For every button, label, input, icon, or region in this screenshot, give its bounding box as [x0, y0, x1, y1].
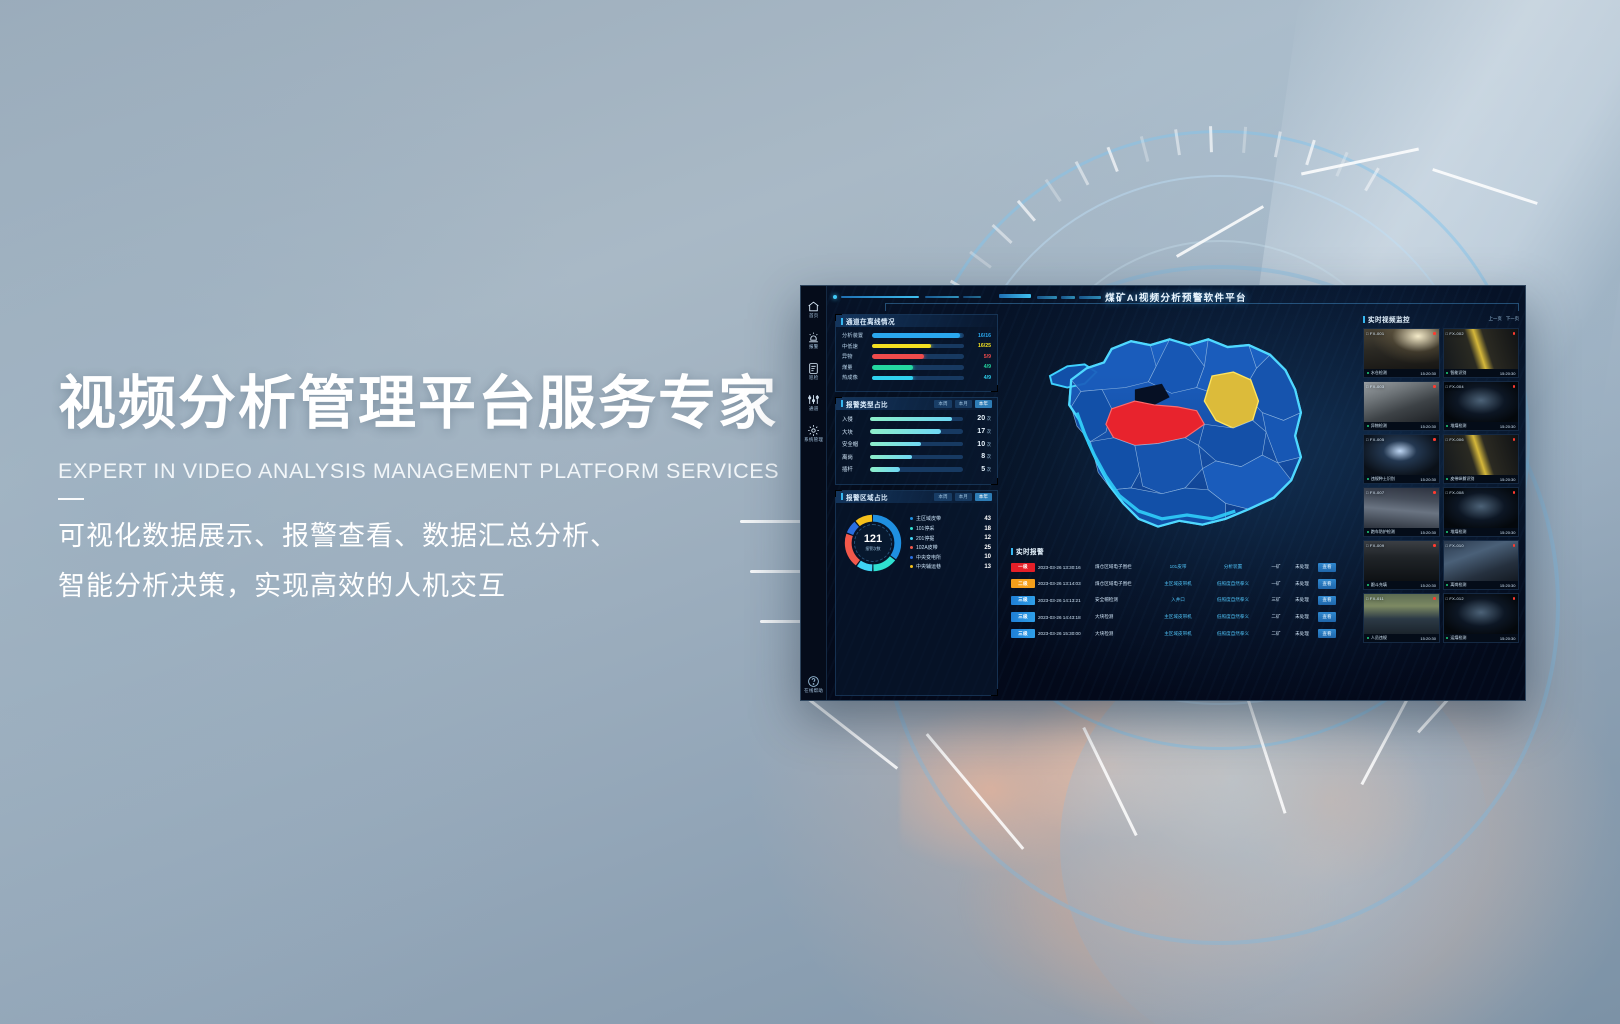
alarm-time: 2023-03-26 15:30:00	[1038, 631, 1092, 636]
tab-本月[interactable]: 本月	[955, 400, 972, 409]
channel-row-value: 16/25	[968, 343, 991, 349]
status-badge: 三级	[1011, 629, 1035, 638]
alarm-type-fill	[870, 455, 912, 459]
center-column: 实时报警 一级2023-03-26 13:30:16煤仓区域电子围栏101皮带分…	[1005, 310, 1361, 700]
dashboard-body: 通道在离线情况 分析装置16/16中低速16/25异物5/9煤量4/9热成像4/…	[827, 310, 1525, 700]
alarm-status: 未处理	[1289, 564, 1315, 570]
alarm-type-value: 20次	[967, 415, 991, 422]
channel-row-label: 热成像	[842, 374, 868, 381]
video-tile[interactable]: □ FX-003异物检测15:20:30	[1363, 381, 1440, 431]
record-indicator-icon	[1433, 491, 1436, 494]
view-button[interactable]: 查看	[1318, 596, 1336, 606]
alarm-channel[interactable]: 主区域皮带机	[1156, 614, 1200, 620]
legend-label: 102A皮带	[916, 544, 981, 551]
help-icon	[807, 675, 820, 688]
alarm-channel[interactable]: 主区域皮带机	[1156, 631, 1200, 637]
video-next-page[interactable]: 下一页	[1506, 316, 1519, 322]
table-row: 三级2023-03-26 14:43:18大块检测主区域皮带机低照度自然拳义二矿…	[1011, 609, 1357, 626]
sidebar-item-channel[interactable]: 通道	[807, 393, 820, 412]
hero-block: 视频分析管理平台服务专家 EXPERT IN VIDEO ANALYSIS MA…	[58, 372, 818, 612]
alarm-type-unit: 次	[987, 442, 991, 447]
video-code: □ FX-010	[1446, 543, 1464, 548]
tab-本周[interactable]: 本周	[934, 400, 951, 409]
video-tile[interactable]: □ FX-005违规种土识别15:20:30	[1363, 434, 1440, 484]
alarm-type-panel-title: 报警类型占比	[846, 399, 888, 409]
right-column: 实时视频监控 上一页 下一页 □ FX-001水仓检测15:20:30□ FX-…	[1361, 310, 1525, 700]
alarm-time: 2023-03-26 14:13:21	[1038, 598, 1092, 603]
video-time: 15:20:30	[1500, 477, 1516, 482]
video-time: 15:20:30	[1500, 424, 1516, 429]
alarm-type-row: 入侵20次	[842, 415, 991, 423]
video-time: 15:20:30	[1500, 636, 1516, 641]
video-time: 15:20:30	[1420, 583, 1436, 588]
map-region-11[interactable]	[1112, 488, 1226, 527]
channel-row-label: 煤量	[842, 364, 868, 371]
channel-row: 异物5/9	[842, 353, 991, 360]
alarm-type-track	[870, 455, 963, 459]
tab-本年[interactable]: 本年	[975, 493, 992, 502]
video-code: □ FX-002	[1446, 331, 1464, 336]
tab-本月[interactable]: 本月	[955, 493, 972, 502]
channel-row-track	[872, 365, 964, 370]
alarm-type-fill	[870, 429, 941, 433]
video-name: 跑车防护检测	[1371, 529, 1395, 535]
table-row: 一级2023-03-26 13:30:16煤仓区域电子围栏101皮带分析装置一矿…	[1011, 559, 1357, 576]
channel-row-label: 分析装置	[842, 332, 868, 339]
channel-rows: 分析装置16/16中低速16/25异物5/9煤量4/9热成像4/9	[842, 332, 991, 381]
video-footer: 堆煤检测15:20:30	[1444, 528, 1519, 536]
channel-row: 分析装置16/16	[842, 332, 991, 339]
tab-本年[interactable]: 本年	[975, 400, 992, 409]
channel-row-fill	[872, 333, 960, 338]
view-button[interactable]: 查看	[1318, 563, 1336, 573]
donut-total-label: 报警次数	[865, 547, 880, 552]
video-code: □ FX-003	[1366, 384, 1384, 389]
legend-value: 10	[984, 554, 991, 560]
alarm-type-tabs: 本周本月本年	[934, 400, 992, 409]
video-pager: 上一页 下一页	[1489, 316, 1519, 322]
record-indicator-icon	[1513, 597, 1516, 600]
video-name: 违规种土识别	[1371, 476, 1395, 482]
alarm-type-rows: 入侵20次大块17次安全帽10次离岗8次插杆5次	[842, 415, 991, 473]
realtime-alarm-header: 实时报警	[1011, 546, 1357, 556]
video-code: □ FX-007	[1366, 490, 1384, 495]
map-area	[1009, 312, 1357, 544]
alarm-type-label: 安全帽	[842, 440, 866, 448]
alarm-area: 大块检测	[1095, 631, 1153, 637]
alarm-mine: 一矿	[1266, 564, 1286, 570]
video-name: 堆煤检测	[1450, 529, 1466, 535]
tab-本周[interactable]: 本周	[934, 493, 951, 502]
legend-dot-icon	[910, 537, 913, 540]
channel-row-value: 4/9	[968, 375, 991, 381]
alarm-type-fill	[870, 467, 900, 471]
video-tile[interactable]: □ FX-009跟斗充填15:20:30	[1363, 540, 1440, 590]
video-code: □ FX-009	[1366, 543, 1384, 548]
alarm-mine: 二矿	[1266, 614, 1286, 620]
video-footer: 水仓检测15:20:30	[1364, 369, 1439, 377]
alarm-type-unit: 次	[987, 454, 991, 459]
alarm-channel[interactable]: 101皮带	[1156, 564, 1200, 570]
video-code: □ FX-005	[1366, 437, 1384, 442]
alarm-type-panel-header: 报警类型占比 本周本月本年	[836, 398, 997, 410]
alarm-area-panel-title: 报警区域占比	[846, 492, 888, 502]
video-name: 人员违规	[1371, 635, 1387, 641]
video-time: 15:20:30	[1420, 636, 1436, 641]
online-dot-icon	[1367, 531, 1369, 533]
legend-label: 101停采	[916, 525, 981, 532]
gear-icon	[807, 424, 820, 437]
status-badge: 一级	[1011, 563, 1035, 572]
channel-row-value: 16/16	[968, 333, 991, 339]
channel-row-fill	[872, 376, 913, 381]
alarm-area-chart: 121 报警次数 主区域皮带43101停采18201停掘12102A皮带25中央…	[842, 508, 991, 574]
alarm-type-label: 入侵	[842, 415, 866, 423]
video-code: □ FX-001	[1366, 331, 1384, 336]
panel-corner-br	[991, 689, 998, 696]
legend-label: 中央变电所	[916, 554, 981, 561]
status-badge: 三级	[1011, 612, 1035, 621]
alarm-time: 2023-03-26 14:43:18	[1038, 615, 1092, 620]
video-tile[interactable]: □ FX-002智能识别15:20:30	[1443, 328, 1520, 378]
channel-panel-header: 通道在离线情况	[836, 315, 997, 327]
alarm-type-track	[870, 467, 963, 471]
video-prev-page[interactable]: 上一页	[1489, 316, 1502, 322]
sidebar-item-help[interactable]: 在线帮助	[806, 675, 821, 694]
record-indicator-icon	[1513, 491, 1516, 494]
video-tile[interactable]: □ FX-007跑车防护检测15:20:30	[1363, 487, 1440, 537]
video-footer: 人员违规15:20:30	[1364, 634, 1439, 642]
donut-legend-item[interactable]: 主区域皮带43	[910, 515, 991, 522]
video-name: 智能识别	[1450, 370, 1466, 376]
alarm-area-panel-header: 报警区域占比 本周本月本年	[836, 491, 997, 503]
video-tile[interactable]: □ FX-010离岗检测15:20:30	[1443, 540, 1520, 590]
legend-label: 主区域皮带	[916, 515, 981, 522]
channel-row: 热成像4/9	[842, 374, 991, 381]
donut-legend-item[interactable]: 101停采18	[910, 525, 991, 532]
video-code: □ FX-008	[1446, 490, 1464, 495]
online-dot-icon	[1446, 584, 1448, 586]
alarm-type: 低照度自然拳义	[1203, 614, 1263, 620]
realtime-alarm-title: 实时报警	[1016, 546, 1044, 556]
channel-row-track	[872, 333, 964, 338]
video-footer: 运煤检测15:20:30	[1444, 634, 1519, 642]
status-badge: 二级	[1011, 579, 1035, 588]
video-footer: 皮带纵撕识别15:20:30	[1444, 475, 1519, 483]
channel-row-label: 异物	[842, 353, 868, 360]
online-dot-icon	[1367, 478, 1369, 480]
alarm-type-row: 插杆5次	[842, 465, 991, 473]
table-row: 三级2023-03-26 15:30:00大块检测主区域皮带机低照度自然拳义二矿…	[1011, 625, 1357, 642]
legend-value: 13	[984, 564, 991, 570]
alarm-status: 未处理	[1289, 631, 1315, 637]
video-tile[interactable]: □ FX-004堆煤检测15:20:30	[1443, 381, 1520, 431]
channel-status-panel: 通道在离线情况 分析装置16/16中低速16/25异物5/9煤量4/9热成像4/…	[835, 314, 998, 392]
record-indicator-icon	[1433, 385, 1436, 388]
video-footer: 离岗检测15:20:30	[1444, 581, 1519, 589]
channel-row: 煤量4/9	[842, 364, 991, 371]
video-name: 运煤检测	[1450, 635, 1466, 641]
status-badge: 三级	[1011, 596, 1035, 605]
video-footer: 异物检测15:20:30	[1364, 422, 1439, 430]
sidebar-item-home[interactable]: 首页	[807, 300, 820, 319]
alarm-type-label: 大块	[842, 428, 866, 436]
channel-row-fill	[872, 354, 924, 359]
alarm-type-row: 安全帽10次	[842, 440, 991, 448]
alarm-type-fill	[870, 442, 921, 446]
sidebar-item-alarm-label: 报警	[809, 344, 818, 350]
view-button[interactable]: 查看	[1318, 579, 1336, 589]
dashboard-screen: 首页 报警 巡检 通道 系统管理 在线帮助	[801, 286, 1525, 700]
video-footer: 堆煤检测15:20:30	[1444, 422, 1519, 430]
online-dot-icon	[1446, 425, 1448, 427]
online-dot-icon	[1367, 372, 1369, 374]
donut-legend-item[interactable]: 中央辅运巷13	[910, 563, 991, 570]
video-time: 15:20:30	[1500, 371, 1516, 376]
province-map[interactable]	[1013, 320, 1361, 542]
legend-dot-icon	[910, 565, 913, 568]
record-indicator-icon	[1513, 385, 1516, 388]
panel-corner-tl	[835, 490, 842, 497]
realtime-alarm-table: 一级2023-03-26 13:30:16煤仓区域电子围栏101皮带分析装置一矿…	[1011, 559, 1357, 642]
video-tile[interactable]: □ FX-012运煤检测15:20:30	[1443, 593, 1520, 643]
record-indicator-icon	[1433, 597, 1436, 600]
alarm-type-row: 离岗8次	[842, 453, 991, 461]
alarm-area: 煤仓区域电子围栏	[1095, 581, 1153, 587]
alarm-mine: 三矿	[1266, 597, 1286, 603]
video-code: □ FX-012	[1446, 596, 1464, 601]
channel-row-label: 中低速	[842, 343, 868, 350]
sidebar: 首页 报警 巡检 通道 系统管理 在线帮助	[801, 286, 827, 700]
panel-corner-br	[991, 478, 998, 485]
legend-dot-icon	[910, 517, 913, 520]
channel-row-fill	[872, 365, 913, 370]
sidebar-item-home-label: 首页	[809, 313, 818, 319]
alarm-type-value: 5次	[967, 466, 991, 473]
video-footer: 违规种土识别15:20:30	[1364, 475, 1439, 483]
page-title: 视频分析管理平台服务专家	[58, 372, 818, 437]
alarm-type-value: 8次	[967, 453, 991, 460]
alarm-channel[interactable]: 主区域皮带机	[1156, 581, 1200, 587]
legend-value: 43	[984, 516, 991, 522]
sidebar-item-channel-label: 通道	[809, 406, 818, 412]
video-name: 堆煤检测	[1450, 423, 1466, 429]
video-time: 15:20:30	[1420, 424, 1436, 429]
panel-corner-tl	[835, 314, 842, 321]
online-dot-icon	[1446, 478, 1448, 480]
alarm-mine: 二矿	[1266, 631, 1286, 637]
dashboard-main: 煤矿AI视频分析预警软件平台 通道在离线情况 分析装置16/16中低速16/25…	[827, 286, 1525, 700]
alarm-status: 未处理	[1289, 581, 1315, 587]
video-tile[interactable]: □ FX-006皮带纵撕识别15:20:30	[1443, 434, 1520, 484]
sidebar-item-help-label: 在线帮助	[804, 688, 823, 694]
donut-legend-item[interactable]: 102A皮带25	[910, 544, 991, 551]
panel-corner-tl	[835, 397, 842, 404]
legend-dot-icon	[910, 556, 913, 559]
video-name: 离岗检测	[1450, 582, 1466, 588]
video-tile[interactable]: □ FX-001水仓检测15:20:30	[1363, 328, 1440, 378]
video-time: 15:20:30	[1420, 530, 1436, 535]
legend-label: 中央辅运巷	[916, 563, 981, 570]
accent-bar-icon	[1363, 316, 1365, 323]
alarm-type-track	[870, 442, 963, 446]
alarm-time: 2023-03-26 13:14:03	[1038, 581, 1092, 586]
video-panel-header: 实时视频监控 上一页 下一页	[1363, 314, 1519, 324]
view-button[interactable]: 查看	[1318, 629, 1336, 639]
donut-center: 121 报警次数	[854, 524, 892, 562]
video-name: 跟斗充填	[1371, 582, 1387, 588]
alarm-type: 分析装置	[1203, 564, 1263, 570]
left-column: 通道在离线情况 分析装置16/16中低速16/25异物5/9煤量4/9热成像4/…	[827, 310, 1005, 700]
dashboard-header: 煤矿AI视频分析预警软件平台	[827, 286, 1525, 310]
sidebar-item-system[interactable]: 系统管理	[806, 424, 821, 443]
inspection-icon	[807, 362, 820, 375]
online-dot-icon	[1446, 637, 1448, 639]
channel-row-value: 4/9	[968, 364, 991, 370]
record-indicator-icon	[1513, 544, 1516, 547]
legend-dot-icon	[910, 527, 913, 530]
sidebar-item-inspection-label: 巡检	[809, 375, 818, 381]
record-indicator-icon	[1433, 332, 1436, 335]
video-time: 15:20:30	[1420, 477, 1436, 482]
alarm-type-row: 大块17次	[842, 428, 991, 436]
channel-row-track	[872, 344, 964, 349]
donut-legend-item[interactable]: 201停掘12	[910, 535, 991, 542]
video-time: 15:20:30	[1500, 530, 1516, 535]
record-indicator-icon	[1513, 332, 1516, 335]
donut-chart: 121 报警次数	[842, 512, 904, 574]
realtime-alarm-section: 实时报警 一级2023-03-26 13:30:16煤仓区域电子围栏101皮带分…	[1011, 546, 1357, 698]
channel-row-track	[872, 354, 964, 359]
online-dot-icon	[1446, 531, 1448, 533]
alarm-type: 低照度自然拳义	[1203, 631, 1263, 637]
alarm-area-panel: 报警区域占比 本周本月本年 121 报警次数 主区域皮带4	[835, 490, 998, 696]
record-indicator-icon	[1433, 544, 1436, 547]
online-dot-icon	[1367, 584, 1369, 586]
channel-row-fill	[872, 344, 931, 349]
video-tile[interactable]: □ FX-008堆煤检测15:20:30	[1443, 487, 1520, 537]
donut-legend: 主区域皮带43101停采18201停掘12102A皮带25中央变电所10中央辅运…	[910, 515, 991, 570]
alarm-type-track	[870, 429, 963, 433]
dashboard-monitor: 首页 报警 巡检 通道 系统管理 在线帮助	[800, 285, 1526, 701]
home-icon	[807, 300, 820, 313]
accent-bar-icon	[1011, 548, 1013, 555]
legend-value: 18	[984, 526, 991, 532]
panel-corner-br	[991, 385, 998, 392]
video-panel-title: 实时视频监控	[1368, 314, 1410, 324]
video-name: 异物检测	[1371, 423, 1387, 429]
hero-divider	[58, 498, 84, 500]
video-code: □ FX-011	[1366, 596, 1384, 601]
donut-legend-item[interactable]: 中央变电所10	[910, 554, 991, 561]
alarm-time: 2023-03-26 13:30:16	[1038, 565, 1092, 570]
video-name: 皮带纵撕识别	[1450, 476, 1474, 482]
video-footer: 跑车防护检测15:20:30	[1364, 528, 1439, 536]
video-tile[interactable]: □ FX-011人员违规15:20:30	[1363, 593, 1440, 643]
channel-row: 中低速16/25	[842, 343, 991, 350]
alarm-channel[interactable]: 入井口	[1156, 597, 1200, 603]
video-code: □ FX-006	[1446, 437, 1464, 442]
alarm-type: 低照度自然拳义	[1203, 581, 1263, 587]
alarm-area-tabs: 本周本月本年	[934, 493, 992, 502]
sidebar-item-system-label: 系统管理	[804, 437, 823, 443]
video-time: 15:20:30	[1500, 583, 1516, 588]
channel-row-track	[872, 376, 964, 381]
alarm-icon	[807, 331, 820, 344]
legend-value: 12	[984, 535, 991, 541]
alarm-area: 安全帽检测	[1095, 597, 1153, 603]
alarm-type-value: 17次	[967, 428, 991, 435]
channel-row-value: 5/9	[968, 354, 991, 360]
alarm-area: 煤仓区域电子围栏	[1095, 564, 1153, 570]
video-time: 15:20:30	[1420, 371, 1436, 376]
alarm-type-label: 离岗	[842, 453, 866, 461]
video-footer: 跟斗充填15:20:30	[1364, 581, 1439, 589]
video-code: □ FX-004	[1446, 384, 1464, 389]
alarm-type-unit: 次	[987, 416, 991, 421]
sidebar-item-alarm[interactable]: 报警	[807, 331, 820, 350]
table-row: 二级2023-03-26 13:14:03煤仓区域电子围栏主区域皮带机低照度自然…	[1011, 576, 1357, 593]
online-dot-icon	[1367, 425, 1369, 427]
legend-dot-icon	[910, 546, 913, 549]
legend-label: 201停掘	[916, 535, 981, 542]
video-footer: 智能识别15:20:30	[1444, 369, 1519, 377]
channel-panel-title: 通道在离线情况	[846, 316, 895, 326]
table-row: 三级2023-03-26 14:13:21安全帽检测入井口低照度自然拳义三矿未处…	[1011, 592, 1357, 609]
online-dot-icon	[1367, 637, 1369, 639]
alarm-mine: 一矿	[1266, 581, 1286, 587]
legend-value: 25	[984, 545, 991, 551]
hero-line-2: 智能分析决策，实现高效的人机交互	[58, 562, 818, 612]
sidebar-item-inspection[interactable]: 巡检	[807, 362, 820, 381]
record-indicator-icon	[1433, 438, 1436, 441]
app-title: 煤矿AI视频分析预警软件平台	[827, 290, 1525, 304]
video-name: 水仓检测	[1371, 370, 1387, 376]
alarm-type-value: 10次	[967, 441, 991, 448]
video-grid: □ FX-001水仓检测15:20:30□ FX-002智能识别15:20:30…	[1363, 328, 1519, 643]
alarm-status: 未处理	[1289, 614, 1315, 620]
alarm-area: 大块检测	[1095, 614, 1153, 620]
alarm-type-unit: 次	[987, 467, 991, 472]
online-dot-icon	[1446, 372, 1448, 374]
alarm-type-panel: 报警类型占比 本周本月本年 入侵20次大块17次安全帽10次离岗8次插杆5次	[835, 397, 998, 485]
channel-icon	[807, 393, 820, 406]
hero-subtitle: EXPERT IN VIDEO ANALYSIS MANAGEMENT PLAT…	[58, 459, 818, 484]
donut-total: 121	[864, 534, 882, 545]
alarm-type-label: 插杆	[842, 465, 866, 473]
alarm-type-track	[870, 417, 963, 421]
view-button[interactable]: 查看	[1318, 612, 1336, 622]
alarm-type-unit: 次	[987, 429, 991, 434]
alarm-type: 低照度自然拳义	[1203, 597, 1263, 603]
alarm-type-fill	[870, 417, 952, 421]
alarm-status: 未处理	[1289, 597, 1315, 603]
hero-line-1: 可视化数据展示、报警查看、数据汇总分析、	[58, 512, 818, 562]
record-indicator-icon	[1513, 438, 1516, 441]
